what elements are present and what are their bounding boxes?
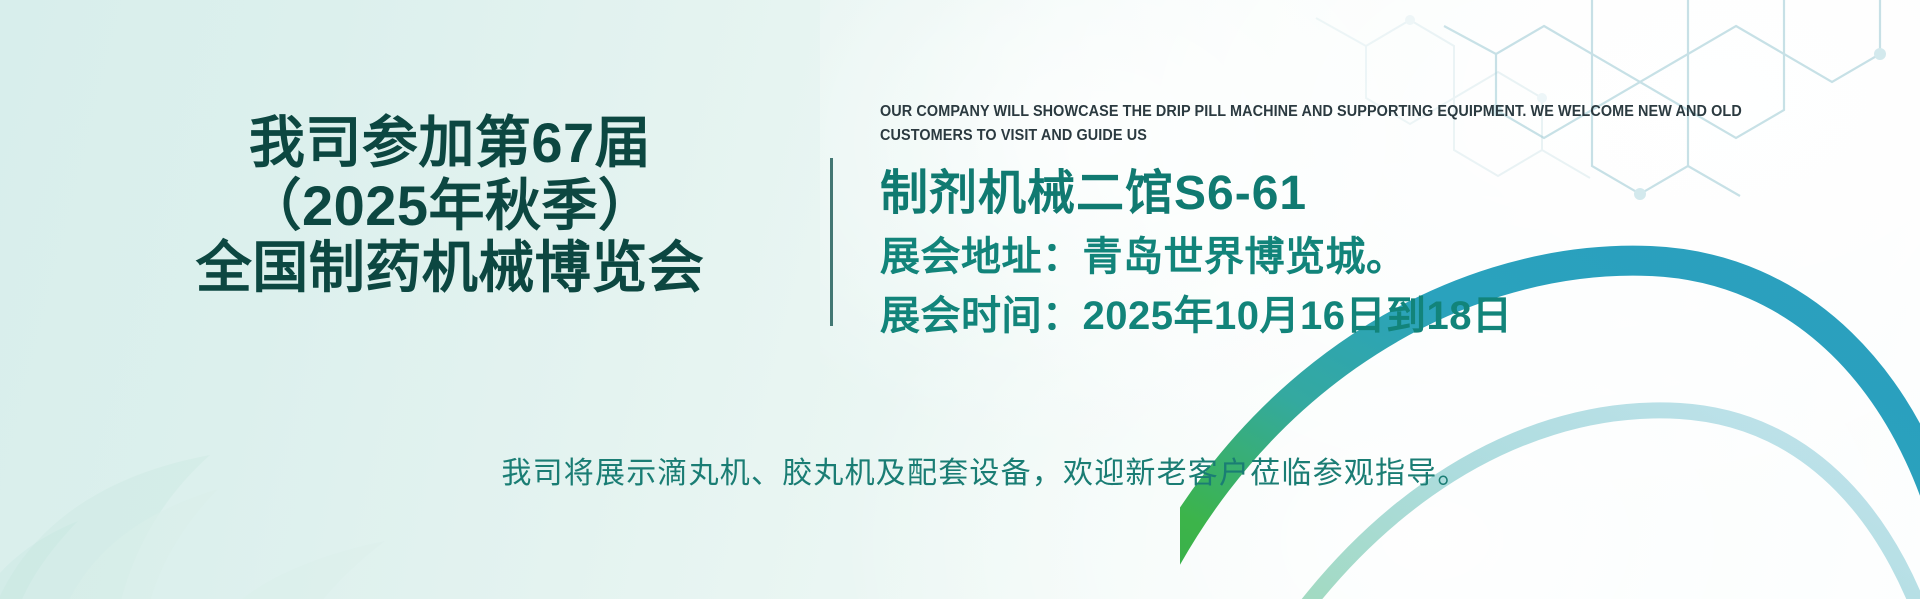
dates-line: 展会时间：2025年10月16日到18日	[880, 293, 1830, 339]
banner-content: 我司参加第67届 （2025年秋季） 全国制药机械博览会 OUR COMPANY…	[0, 0, 1920, 599]
title-line-2: （2025年秋季）	[120, 175, 780, 238]
title-line-1: 我司参加第67届	[120, 112, 780, 175]
booth-number: 制剂机械二馆S6-61	[880, 168, 1830, 221]
page-title: 我司参加第67届 （2025年秋季） 全国制药机械博览会	[120, 112, 780, 300]
details-column: OUR COMPANY WILL SHOWCASE THE DRIP PILL …	[880, 100, 1830, 339]
venue-line: 展会地址：青岛世界博览城。	[880, 234, 1830, 280]
english-caption: OUR COMPANY WILL SHOWCASE THE DRIP PILL …	[880, 100, 1764, 148]
title-line-3: 全国制药机械博览会	[120, 237, 780, 300]
vertical-divider	[830, 158, 833, 326]
subtitle-text: 我司将展示滴丸机、胶丸机及配套设备，欢迎新老客户莅临参观指导。	[0, 448, 1920, 492]
exhibition-banner: 我司参加第67届 （2025年秋季） 全国制药机械博览会 OUR COMPANY…	[0, 0, 1920, 599]
